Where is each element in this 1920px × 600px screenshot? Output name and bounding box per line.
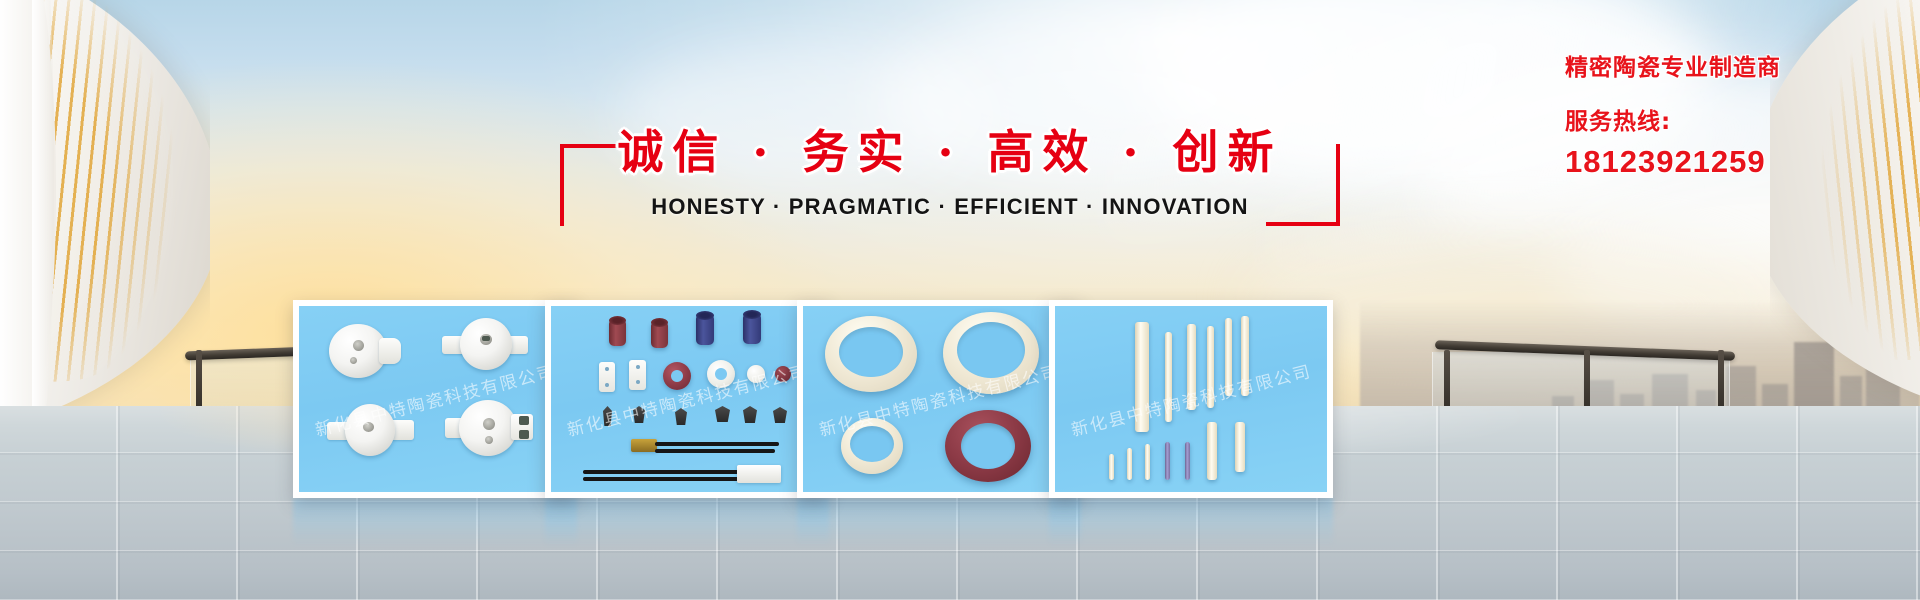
alumina-ring-large-2 xyxy=(943,312,1039,394)
ceramic-tube-blue-2 xyxy=(743,314,761,344)
ceramic-plate xyxy=(599,362,615,392)
metal-clip xyxy=(633,406,645,423)
product-panel-components[interactable]: 新化县中特陶瓷科技有限公司 xyxy=(545,300,829,498)
metal-clip xyxy=(743,406,757,423)
slogan-block: 诚信 · 务实 · 高效 · 创新 HONESTY · PRAGMATIC · … xyxy=(560,120,1340,245)
ceramic-cap-red xyxy=(775,366,791,382)
panel-reflection xyxy=(293,498,577,554)
ceramic-lamp-holder-winged xyxy=(442,318,528,376)
ceramic-bar-flat xyxy=(1207,422,1217,480)
panel-reflection xyxy=(797,498,1081,554)
hotline-number[interactable]: 18123921259 xyxy=(1565,144,1905,180)
ceramic-lamp-holder-contact xyxy=(445,400,537,462)
ceramic-rod-thin xyxy=(1225,318,1232,396)
metal-clip xyxy=(773,407,787,423)
panel-reflection xyxy=(545,498,829,554)
ceramic-lamp-holder-round xyxy=(329,324,403,380)
slogan-chinese: 诚信 · 务实 · 高效 · 创新 xyxy=(560,120,1340,184)
ceramic-ring-maroon xyxy=(945,410,1031,482)
metal-clip xyxy=(675,408,687,425)
panel-reflection xyxy=(1049,498,1333,554)
ceramic-tube-red xyxy=(609,320,626,346)
ceramic-bar-flat xyxy=(1235,422,1245,472)
product-panel-rods[interactable]: 新化县中特陶瓷科技有限公司 xyxy=(1049,300,1333,498)
ceramic-rod-purple xyxy=(1165,442,1170,480)
ceramic-tube-red-2 xyxy=(651,322,668,348)
alumina-ring-small xyxy=(841,418,903,474)
ceramic-rod-short xyxy=(1127,448,1132,480)
ceramic-rod-thin xyxy=(1207,326,1214,408)
metal-clip xyxy=(603,406,612,426)
banner-stage: 诚信 · 务实 · 高效 · 创新 HONESTY · PRAGMATIC · … xyxy=(0,0,1920,600)
ceramic-lamp-holder-winged-2 xyxy=(327,402,415,462)
ceramic-cap-white xyxy=(747,365,765,383)
alumina-ring-large xyxy=(825,316,917,392)
ceramic-rod-short xyxy=(1109,454,1114,480)
ceramic-rod-short xyxy=(1145,444,1150,480)
ceramic-rod-medium xyxy=(1187,324,1196,410)
hotline-label: 服务热线: xyxy=(1565,102,1905,136)
slogan-english: HONESTY · PRAGMATIC · EFFICIENT · INNOVA… xyxy=(560,194,1340,220)
ceramic-tube-blue xyxy=(696,315,714,345)
contact-block: 精密陶瓷专业制造商 服务热线: 18123921259 xyxy=(1565,48,1905,180)
ceramic-rod-purple xyxy=(1185,442,1190,480)
product-panel-lamp-holders[interactable]: 新化县中特陶瓷科技有限公司 xyxy=(293,300,577,498)
ceramic-rod-medium xyxy=(1165,332,1172,422)
ceramic-rod-thin xyxy=(1241,316,1249,396)
ceramic-plate-2 xyxy=(629,360,646,390)
ceramic-rod-thick xyxy=(1135,322,1149,432)
company-tagline: 精密陶瓷专业制造商 xyxy=(1565,48,1905,82)
metal-clip xyxy=(715,406,730,422)
ceramic-ring-white xyxy=(707,360,735,388)
ceramic-ring-red xyxy=(663,362,691,390)
product-panel-rings[interactable]: 新化县中特陶瓷科技有限公司 xyxy=(797,300,1081,498)
